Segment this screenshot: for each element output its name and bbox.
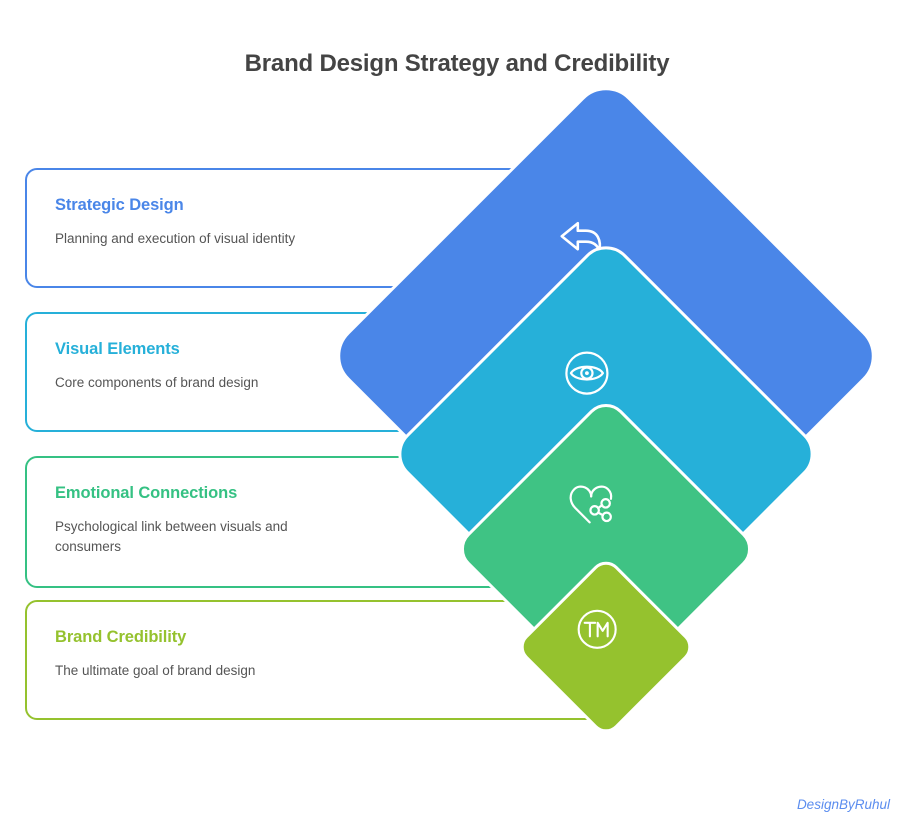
- heart-share-icon: [565, 479, 617, 529]
- footer-credit: DesignByRuhul: [797, 797, 890, 812]
- eye-in-circle-icon: [562, 348, 612, 398]
- trademark-circle-icon: [574, 606, 620, 652]
- diamond-stack: [0, 0, 914, 828]
